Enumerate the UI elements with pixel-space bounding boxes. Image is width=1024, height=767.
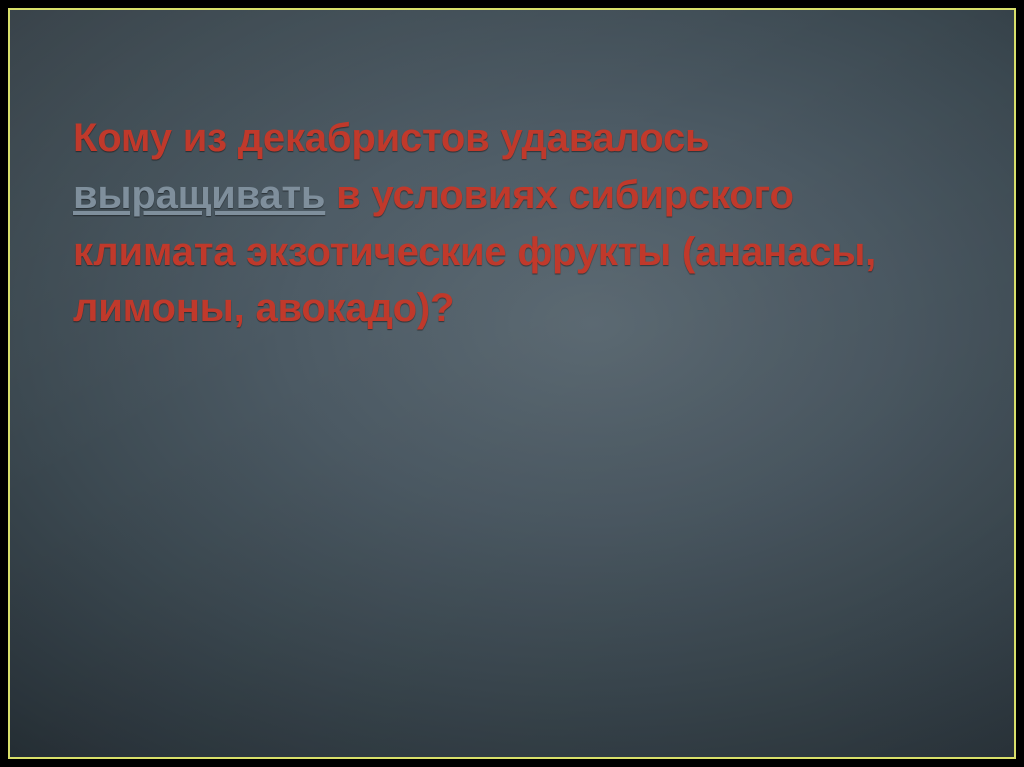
question-part-1: Кому из декабристов удавалось bbox=[73, 116, 709, 160]
presentation-slide: Кому из декабристов удавалось выращивать… bbox=[0, 0, 1024, 767]
slide-content-area: Кому из декабристов удавалось выращивать… bbox=[8, 8, 1016, 759]
slide-question-text: Кому из декабристов удавалось выращивать… bbox=[73, 110, 953, 337]
question-highlight-word: выращивать bbox=[73, 173, 325, 217]
slide-title-block: Кому из декабристов удавалось выращивать… bbox=[73, 110, 953, 337]
